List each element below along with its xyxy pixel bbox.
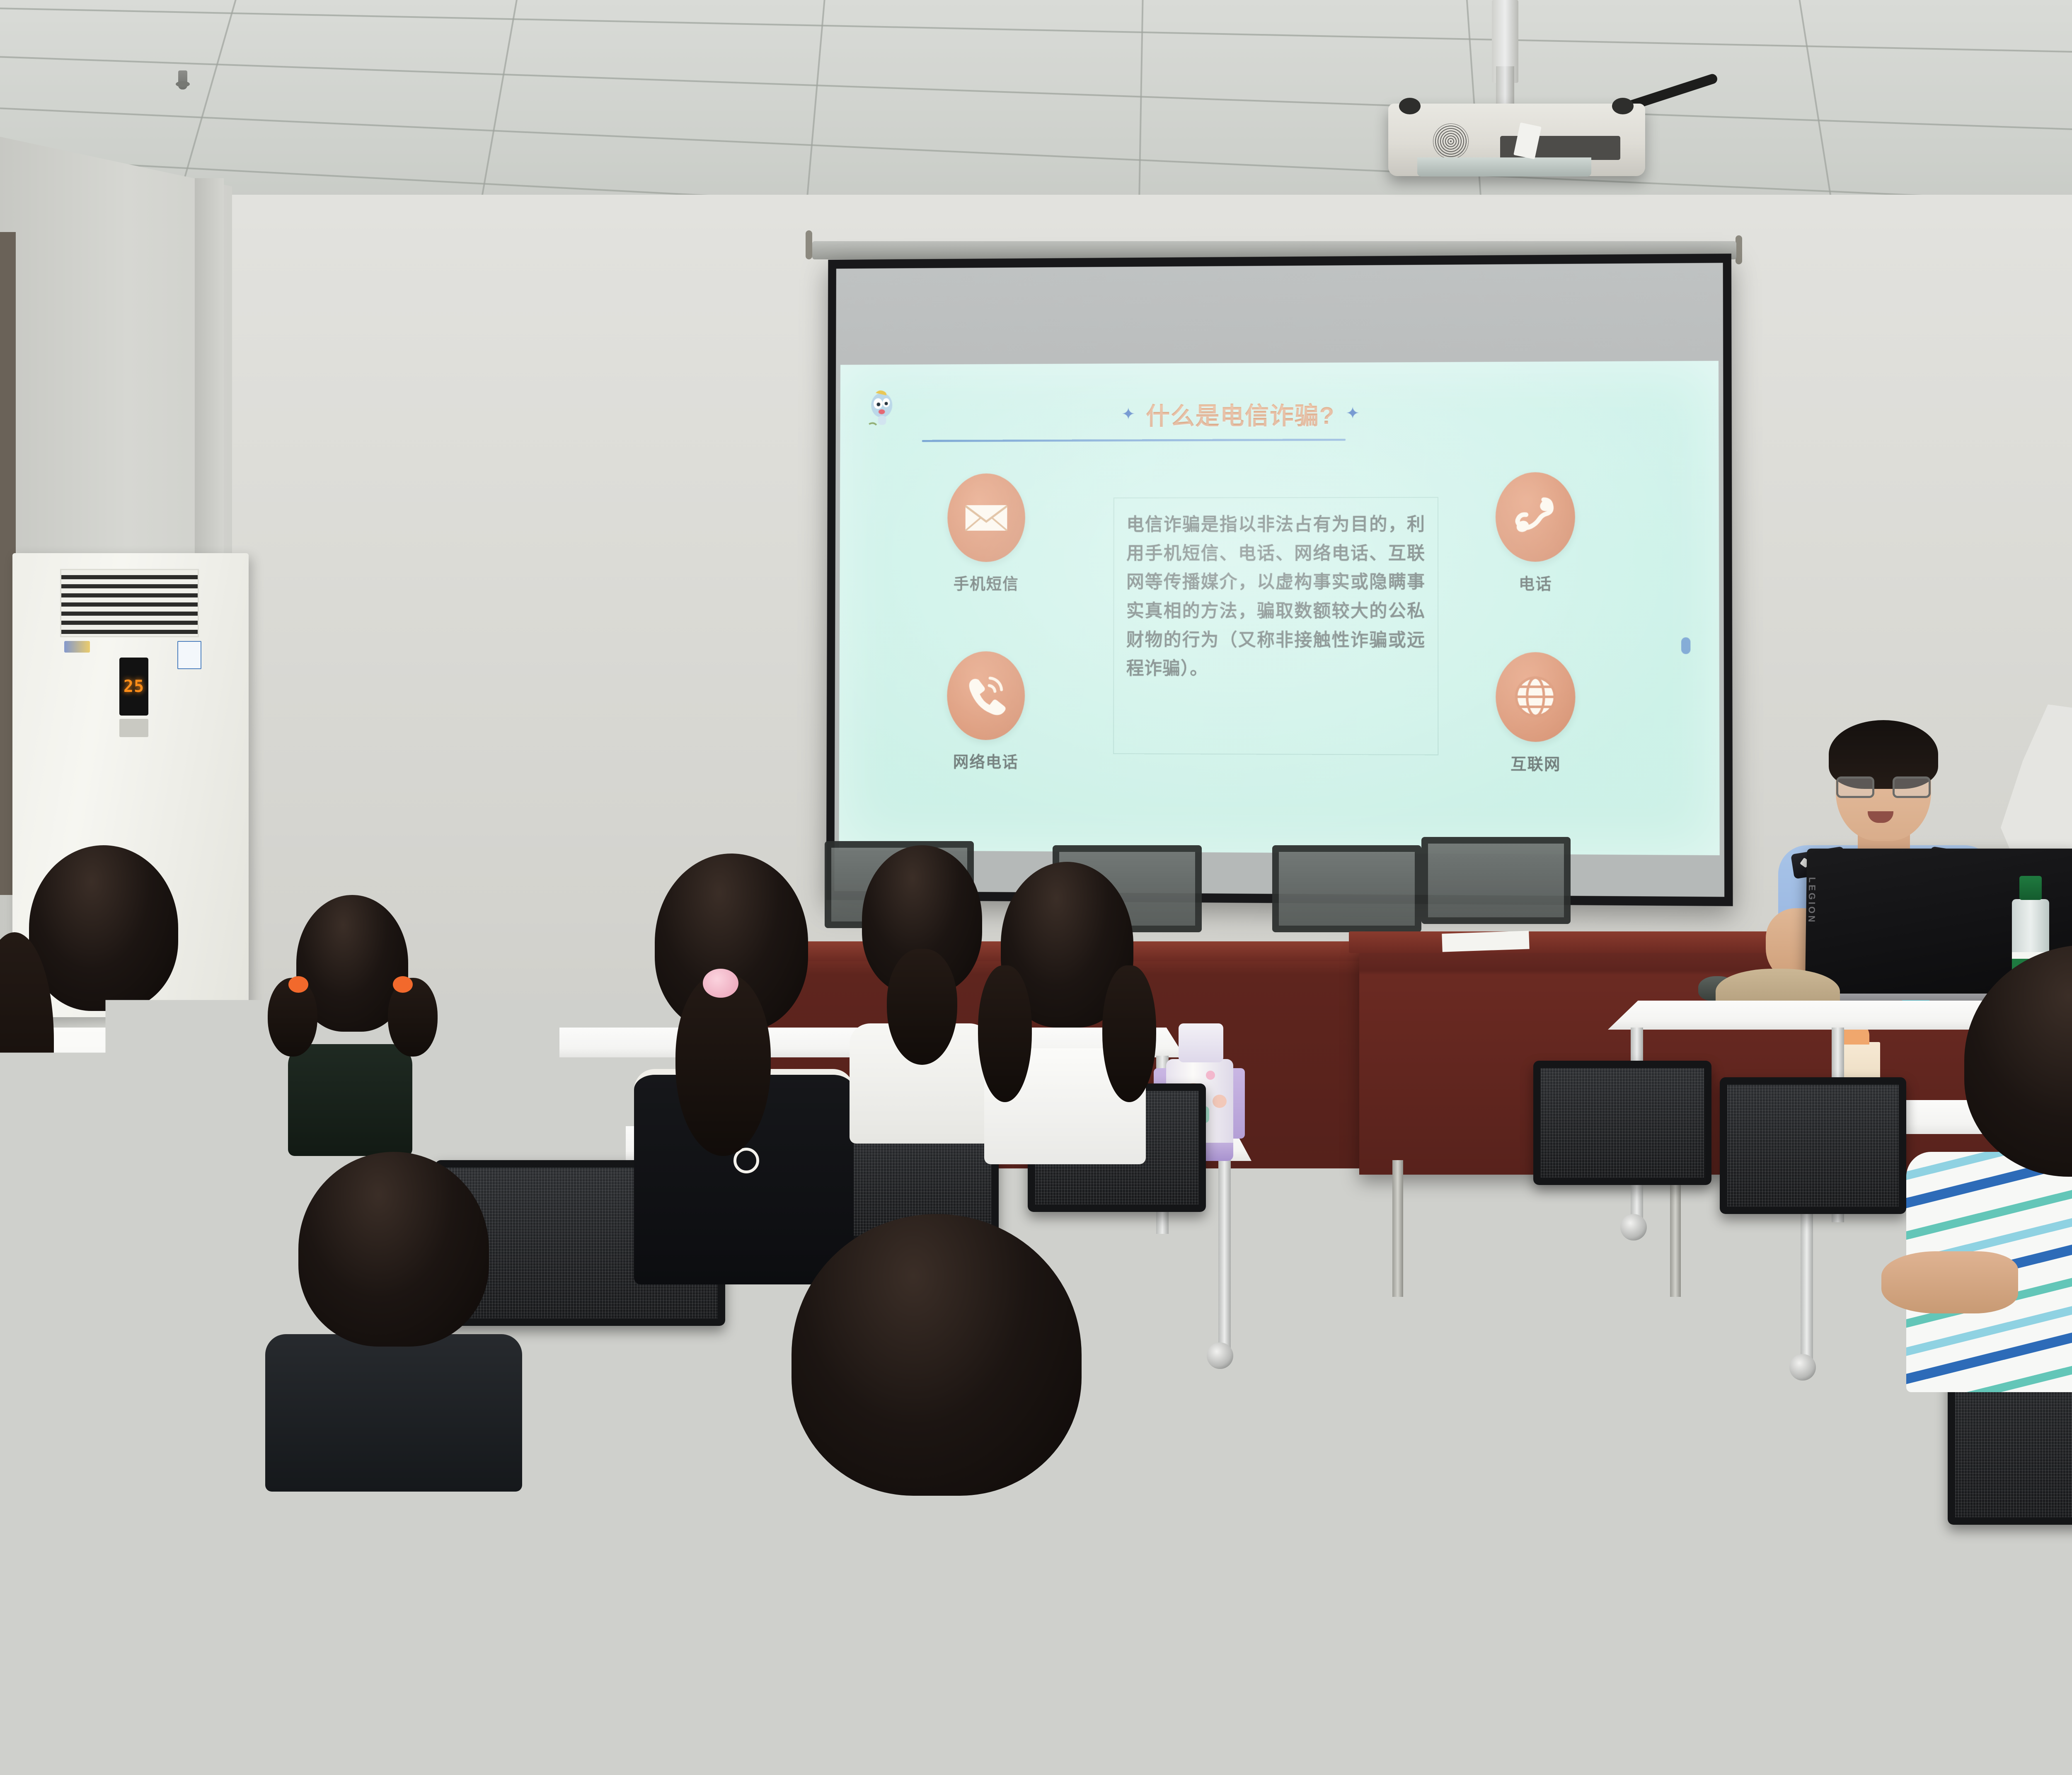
student-girl-white-collar	[961, 862, 1169, 1160]
slide-item-sms: 手机短信	[939, 474, 1034, 594]
bottle-cap	[2019, 876, 2042, 900]
slide-item-label: 电话	[1487, 571, 1583, 594]
slide-item-label: 网络电话	[939, 749, 1033, 772]
presentation-slide: ✦ 什么是电信诈骗? ✦ 手机短信	[839, 361, 1720, 856]
envelope-icon	[947, 474, 1025, 562]
slide-item-voip: 网络电话	[939, 651, 1033, 771]
sprinkler-head	[178, 70, 187, 89]
student-arm	[1881, 1251, 2018, 1313]
classroom-chair[interactable]	[124, 1632, 638, 1775]
thermos-cap	[1179, 1023, 1223, 1062]
slide-definition-box: 电信诈骗是指以非法占有为目的，利用手机短信、电话、网络电话、互联网等传播媒介，以…	[1113, 497, 1439, 755]
screen-status-indicator	[1681, 637, 1690, 654]
officer-glasses-icon	[1836, 776, 1931, 798]
front-chair[interactable]	[1421, 837, 1571, 924]
thermos-sticker-star	[1206, 1071, 1215, 1080]
projector-knob-right	[1612, 98, 1634, 114]
student-desk	[1973, 1674, 2072, 1724]
student-shirt	[265, 1334, 522, 1492]
desk-caster-wheel	[1898, 1676, 1924, 1703]
desk-leg	[1376, 1421, 1388, 1603]
student-bun	[887, 949, 957, 1065]
chair-metal-rail	[663, 1628, 1251, 1642]
hair-scrunchie-pink	[703, 969, 738, 998]
desk-caster-wheel	[1620, 1214, 1647, 1241]
student-boy-foreground	[775, 1214, 1106, 1529]
lectern-leg	[1392, 1160, 1403, 1297]
classroom-chair[interactable]	[1720, 1077, 1906, 1214]
student-hair	[792, 1214, 1082, 1496]
laptop-brand-label: LEGION	[1806, 877, 1817, 924]
hair-tie-orange-right	[393, 976, 413, 993]
classroom-chair[interactable]	[1533, 1061, 1711, 1185]
student-hair-strand-right	[1102, 965, 1156, 1102]
desk-leg	[1218, 1156, 1231, 1351]
energy-label-sticker	[177, 641, 201, 669]
slide-definition-text: 电信诈骗是指以非法占有为目的，利用手机短信、电话、网络电话、互联网等传播媒介，以…	[1126, 510, 1426, 684]
phone-signal-icon	[947, 651, 1025, 740]
sparkle-right-icon: ✦	[1346, 405, 1360, 421]
air-conditioner-decal	[64, 641, 90, 653]
phone-handset-icon	[1496, 472, 1575, 562]
projector-knob-left	[1399, 98, 1421, 114]
student-ponytail	[675, 974, 771, 1156]
student-hair	[29, 845, 178, 1011]
screen-hook-right	[1736, 235, 1742, 264]
desk-leg	[1910, 1433, 1923, 1686]
slide-item-label: 手机短信	[939, 571, 1033, 594]
screen-surface: ✦ 什么是电信诈骗? ✦ 手机短信	[834, 263, 1724, 897]
student-hair	[1964, 945, 2072, 1177]
front-chair[interactable]	[1272, 845, 1421, 932]
air-conditioner-vent-grille	[60, 569, 199, 637]
desk-caster-wheel	[1207, 1342, 1233, 1369]
projector-vent-icon	[1433, 123, 1469, 159]
sparkle-left-icon: ✦	[1121, 406, 1135, 422]
paper-on-desk	[1442, 931, 1529, 952]
slide-item-phone: 电话	[1487, 472, 1584, 594]
screen-hook-left	[806, 230, 812, 259]
student-girl-pigtails	[265, 895, 439, 1152]
thermos-sticker-bear	[1213, 1095, 1227, 1108]
slide-item-label: 互联网	[1487, 751, 1584, 774]
student-boy-left	[249, 1152, 539, 1492]
slide-title-underline	[922, 439, 1346, 442]
slide-item-internet: 互联网	[1487, 652, 1584, 774]
student-girl-white-shirt	[0, 845, 240, 1239]
slide-title-row: ✦ 什么是电信诈骗? ✦	[918, 396, 1567, 431]
slide-title: 什么是电信诈骗?	[1146, 396, 1335, 431]
student-hair	[298, 1152, 489, 1347]
projection-screen: ✦ 什么是电信诈骗? ✦ 手机短信	[826, 254, 1733, 906]
air-conditioner-button-pad[interactable]	[119, 719, 148, 737]
desk-caster-wheel	[1789, 1354, 1816, 1381]
cartoon-mascot-icon	[866, 386, 898, 429]
student-boy-striped-shirt	[1881, 945, 2072, 1392]
air-conditioner-temperature: 25	[123, 677, 144, 696]
globe-icon	[1496, 652, 1575, 742]
student-hair-strand-left	[978, 965, 1032, 1102]
projector-lens	[1417, 157, 1591, 177]
hair-tie-orange-left	[288, 976, 308, 993]
air-conditioner-display: 25	[119, 658, 148, 716]
student-shirt	[288, 1044, 412, 1156]
classroom-photo-scene: ✦ 什么是电信诈骗? ✦ 手机短信	[0, 0, 2072, 1775]
